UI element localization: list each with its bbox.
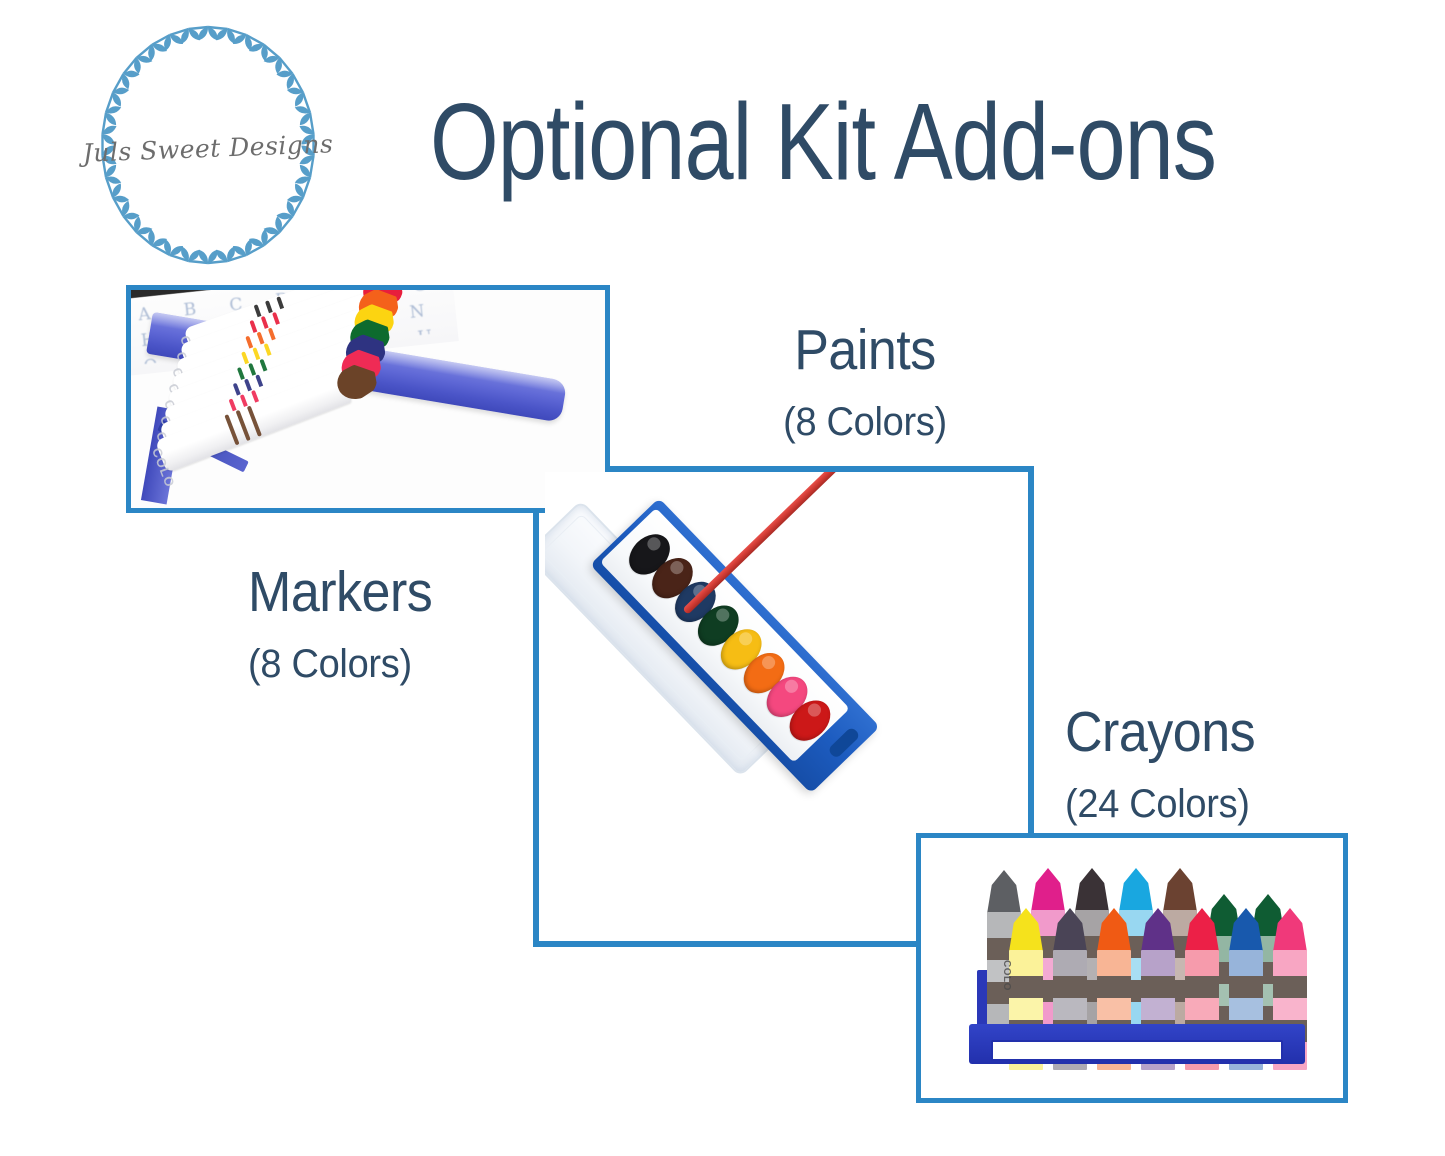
crayon-brand: COLO: [1001, 960, 1012, 991]
crayon-tip: [987, 870, 1021, 914]
paints-label-count: (8 Colors): [700, 400, 1030, 446]
poster-canvas: Juls Sweet Designs Optional Kit Add-ons …: [0, 0, 1445, 1156]
wrapper-band: [1009, 976, 1043, 998]
page-title: Optional Kit Add-ons: [430, 88, 1294, 197]
paint-brush: [682, 472, 860, 615]
connector-markers-down: [533, 510, 539, 946]
wrapper-band: [1185, 950, 1219, 976]
wrapper-band: [1273, 950, 1307, 976]
crayon-stage: COLO: [973, 864, 1305, 1062]
brand-logo: Juls Sweet Designs: [58, 14, 358, 276]
crayon-tray-front: [969, 1024, 1305, 1064]
markers-label-count: (8 Colors): [248, 642, 432, 688]
wrapper-band: [1141, 950, 1175, 976]
crayons-label-count: (24 Colors): [1065, 782, 1255, 828]
wrapper-band: [1053, 950, 1087, 976]
paints-label-title: Paints: [700, 318, 1030, 383]
crayon-tip: [1163, 868, 1197, 912]
wrapper-band: [1053, 998, 1087, 1020]
paint-tray-hook: [827, 726, 860, 759]
marker-ring: [236, 410, 251, 441]
connector-paints-label-v: [1028, 466, 1034, 841]
marker-ring: [224, 414, 239, 445]
crayons-label-title: Crayons: [1065, 700, 1255, 765]
wrapper-band: [1097, 950, 1131, 976]
wrapper-band: [1273, 998, 1307, 1020]
wrapper-band: [1009, 998, 1043, 1020]
wrapper-band: [1229, 998, 1263, 1020]
wrapper-band: [1053, 976, 1087, 998]
markers-photo: A B C D E F G H I J K L M N O P Q R S T …: [131, 290, 605, 508]
wrapper-band: [1009, 950, 1043, 976]
paint-set: [573, 482, 903, 872]
crayons-photo-frame: COLO: [916, 833, 1348, 1103]
connector-paints-bottom: [533, 941, 925, 947]
markers-label: Markers (8 Colors): [248, 560, 432, 685]
wrapper-band: [1141, 998, 1175, 1020]
wrapper-band: [1185, 976, 1219, 998]
paints-label: Paints (8 Colors): [700, 318, 1030, 443]
wrapper-band: [1141, 976, 1175, 998]
wrapper-band: [1097, 998, 1131, 1020]
crayon-tip: [1119, 868, 1153, 912]
wrapper-band: [1229, 950, 1263, 976]
crayons-label: Crayons (24 Colors): [1065, 700, 1255, 825]
crayons-photo: COLO: [921, 838, 1343, 1098]
marker-ring: [247, 406, 262, 437]
wrapper-band: [1229, 976, 1263, 998]
wrapper-band: [1097, 976, 1131, 998]
crayon-tip: [1031, 868, 1065, 912]
wrapper-band: [1185, 998, 1219, 1020]
markers-label-title: Markers: [248, 560, 432, 625]
markers-photo-frame: A B C D E F G H I J K L M N O P Q R S T …: [126, 285, 610, 513]
crayon-tip: [1075, 868, 1109, 912]
wrapper-band: [1273, 976, 1307, 998]
